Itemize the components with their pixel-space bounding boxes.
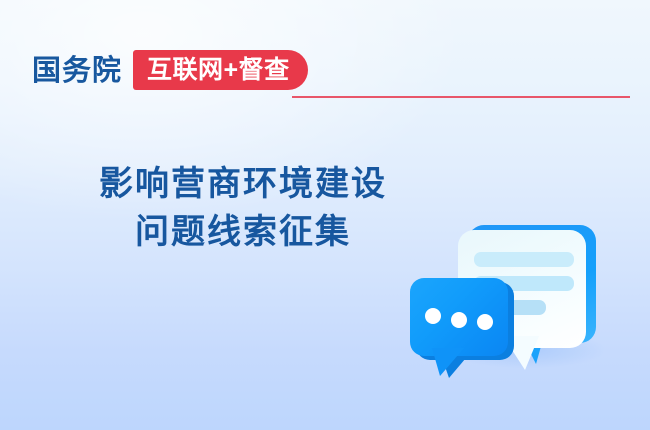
message-line-bar xyxy=(474,252,574,267)
header-divider-rule xyxy=(292,96,630,98)
poster-banner: 国务院 互联网+督查 影响营商环境建设 问题线索征集 xyxy=(0,0,650,430)
typing-dot-icon xyxy=(477,314,493,330)
chat-bubbles-illustration xyxy=(398,196,650,396)
title-line-1: 影响营商环境建设 xyxy=(28,160,458,208)
page-title: 影响营商环境建设 问题线索征集 xyxy=(28,160,458,256)
header-badge-label: 互联网+督查 xyxy=(147,56,290,84)
poster-header: 国务院 互联网+督查 xyxy=(0,52,650,98)
header-badge: 互联网+督查 xyxy=(133,50,308,90)
title-line-2: 问题线索征集 xyxy=(28,208,458,256)
header-logo-text: 国务院 xyxy=(32,52,122,90)
typing-dot-icon xyxy=(425,308,441,324)
typing-dot-icon xyxy=(451,312,467,328)
small-speech-bubble-tail xyxy=(432,348,464,376)
